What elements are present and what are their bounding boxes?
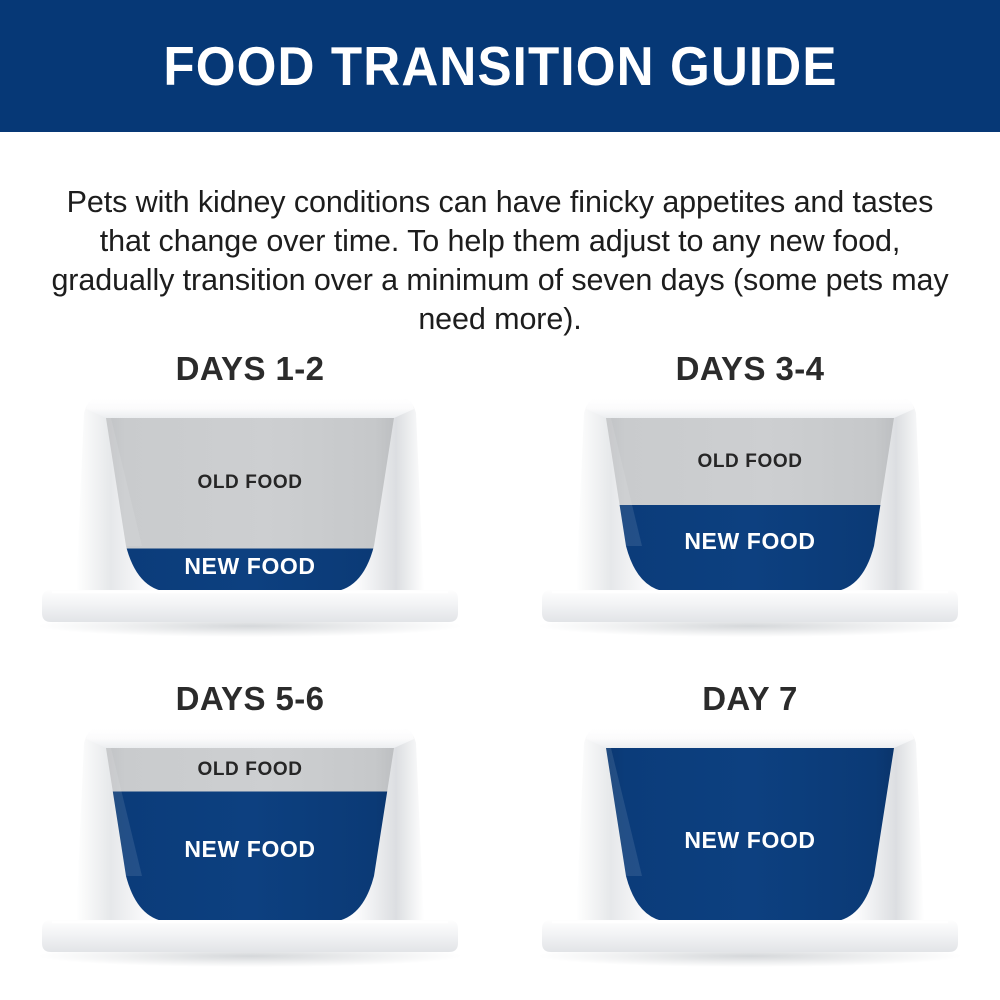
bowl-panel: DAY 7 [500,666,1000,996]
food-bowl: OLD FOODNEW FOOD [10,724,490,974]
panel-title: DAYS 3-4 [500,350,1000,388]
food-bowl: NEW FOOD [510,724,990,974]
food-transition-infographic: FOOD TRANSITION GUIDE Pets with kidney c… [0,0,1000,1000]
panel-title: DAYS 1-2 [0,350,500,388]
panel-title: DAY 7 [500,680,1000,718]
intro-paragraph: Pets with kidney conditions can have fin… [50,183,950,339]
bowl-illustration [10,394,490,644]
page-title: FOOD TRANSITION GUIDE [163,39,837,94]
bowl-panel: DAYS 3-4 [500,336,1000,666]
bowl-panel: DAYS 5-6 [0,666,500,996]
panel-title: DAYS 5-6 [0,680,500,718]
bowl-illustration [510,724,990,974]
header-banner: FOOD TRANSITION GUIDE [0,0,1000,132]
bowl-grid: DAYS 1-2 [0,336,1000,996]
food-bowl: OLD FOODNEW FOOD [10,394,490,644]
bowl-illustration [10,724,490,974]
food-bowl: OLD FOODNEW FOOD [510,394,990,644]
bowl-illustration [510,394,990,644]
bowl-panel: DAYS 1-2 [0,336,500,666]
